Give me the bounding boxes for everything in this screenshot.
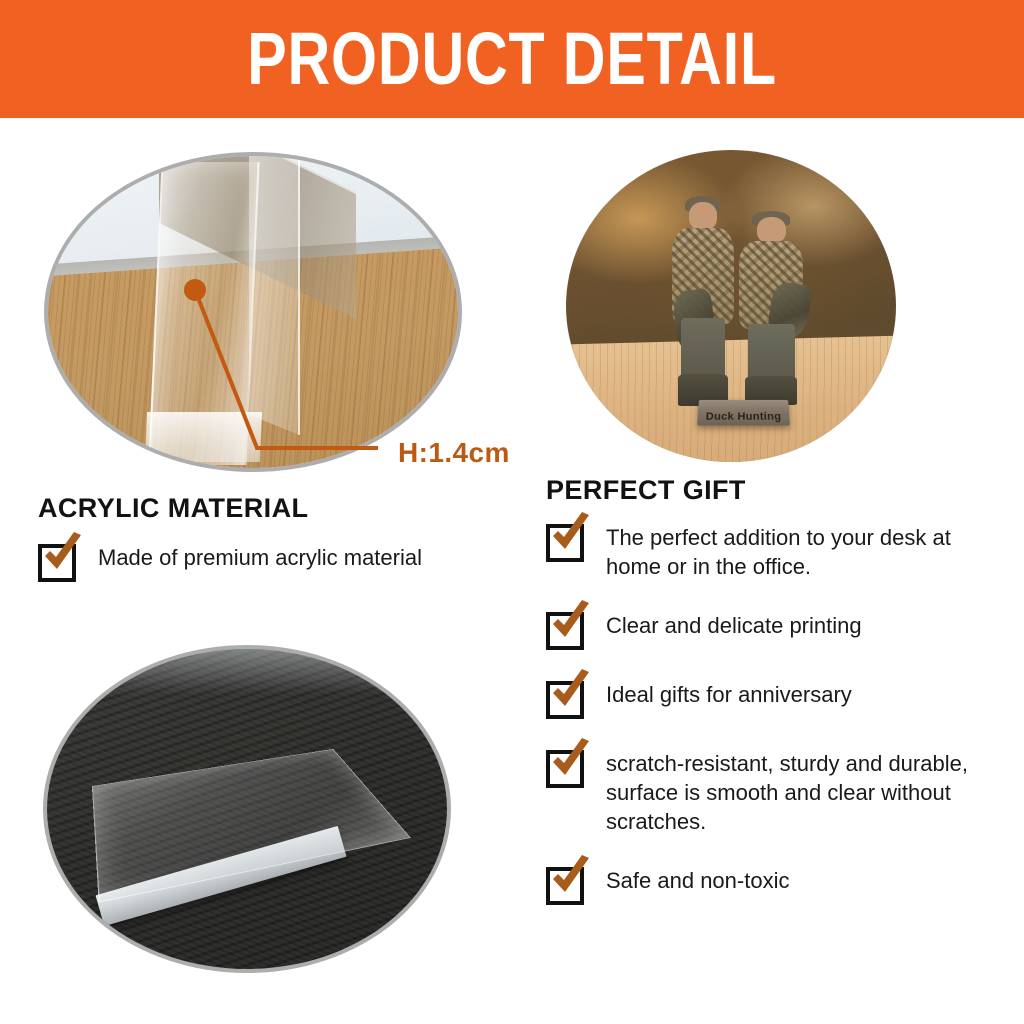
list-item: Made of premium acrylic material (38, 540, 518, 582)
duck-hunting-figurine-photo: Duck Hunting (566, 150, 896, 462)
checkbox-checked (546, 681, 584, 719)
checkmark-icon (548, 512, 594, 558)
hunter-right-legs (748, 324, 795, 379)
height-callout-label: H:1.4cm (398, 437, 510, 469)
list-item: scratch-resistant, sturdy and durable, s… (546, 746, 1006, 836)
checkbox-checked (38, 544, 76, 582)
figurine-subject: Duck Hunting (665, 187, 817, 430)
checkbox-checked (546, 612, 584, 650)
page-title: PRODUCT DETAIL (247, 22, 777, 96)
checkbox-checked (546, 524, 584, 562)
checkmark-icon (548, 669, 594, 715)
acrylic-blank-photo (43, 645, 451, 973)
hunter-left (668, 202, 738, 402)
checkmark-icon (40, 532, 86, 578)
checkmark-icon (548, 738, 594, 784)
list-item: Safe and non-toxic (546, 863, 1006, 905)
feature-list-acrylic-material: Made of premium acrylic material (38, 540, 518, 582)
hunter-right (735, 217, 808, 402)
checkbox-checked (546, 750, 584, 788)
figurine-stone-base: Duck Hunting (697, 400, 790, 425)
section-heading-acrylic-material: ACRYLIC MATERIAL (38, 493, 308, 524)
list-item-label: Clear and delicate printing (606, 608, 862, 640)
checkmark-icon (548, 600, 594, 646)
list-item-label: The perfect addition to your desk at hom… (606, 520, 1006, 581)
hunter-left-head (689, 202, 717, 230)
figurine-base-label: Duck Hunting (698, 411, 791, 423)
list-item: Clear and delicate printing (546, 608, 1006, 650)
acrylic-slab-foot (145, 412, 262, 462)
header-banner: PRODUCT DETAIL (0, 0, 1024, 118)
list-item-label: Ideal gifts for anniversary (606, 677, 852, 709)
checkbox-checked (546, 867, 584, 905)
acrylic-edge-photo (44, 152, 462, 472)
list-item: Ideal gifts for anniversary (546, 677, 1006, 719)
slate-highlight (87, 645, 407, 694)
checkmark-icon (548, 855, 594, 901)
list-item-label: scratch-resistant, sturdy and durable, s… (606, 746, 1006, 836)
section-heading-perfect-gift: PERFECT GIFT (546, 475, 746, 506)
list-item-label: Safe and non-toxic (606, 863, 789, 895)
list-item: The perfect addition to your desk at hom… (546, 520, 1006, 581)
feature-list-perfect-gift: The perfect addition to your desk at hom… (546, 520, 1006, 905)
list-item-label: Made of premium acrylic material (98, 540, 422, 572)
hunter-right-head (757, 217, 786, 243)
hunter-left-legs (681, 318, 726, 378)
